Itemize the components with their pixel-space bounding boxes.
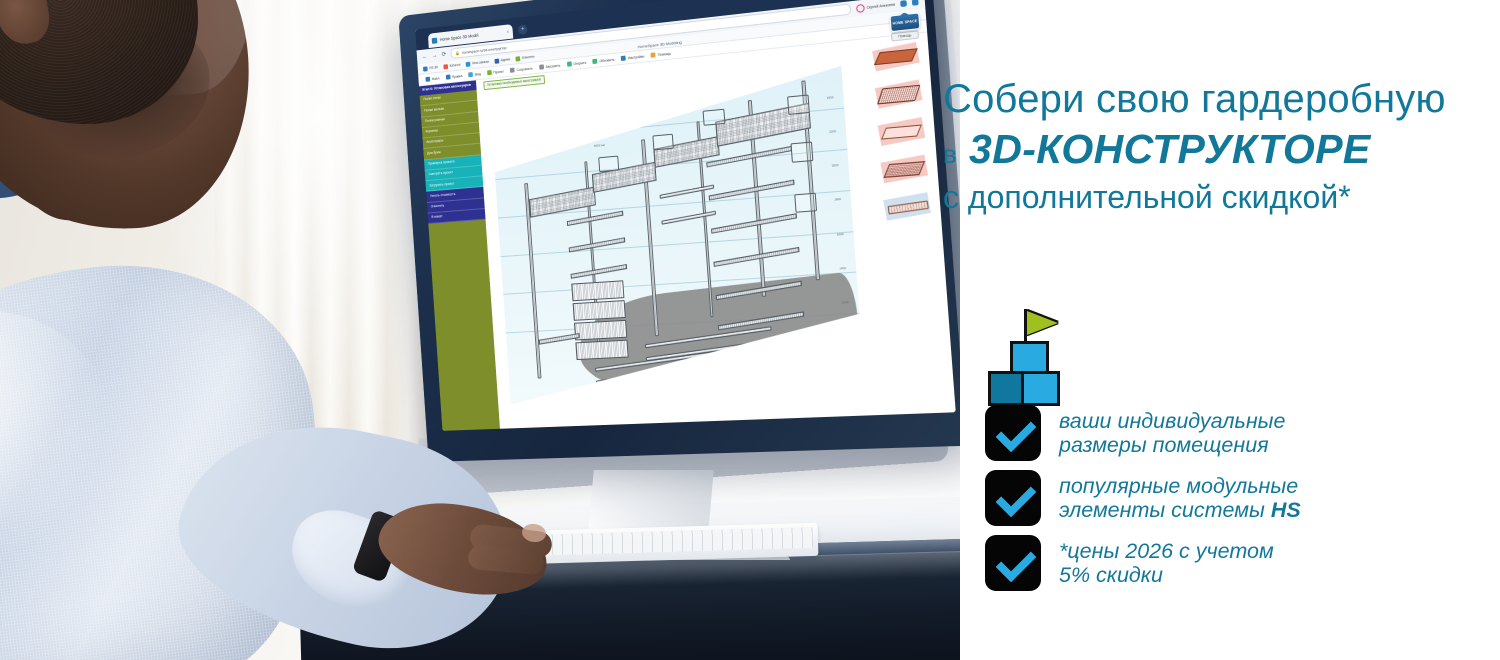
bookmark-item[interactable]: Админ (494, 57, 510, 64)
building-blocks-icon (988, 305, 1074, 400)
headline-line-2: в 3D-КОНСТРУКТОРЕ (943, 125, 1488, 173)
toolbar-item[interactable]: Вид (469, 71, 481, 77)
toolbar-item[interactable]: Настройки (621, 54, 644, 61)
sidebar-section-actions: Узнать стоимость Очистить В макет (426, 187, 485, 224)
headline-block: Собери свою гардеробную в 3D-КОНСТРУКТОР… (943, 78, 1488, 215)
benefit-line-2: размеры помещения (1059, 433, 1269, 457)
check-icon (985, 470, 1041, 526)
benefit-text: *цены 2026 с учетом 5% скидки (1059, 539, 1274, 588)
benefit-line-1: ваши индивидуальные (1059, 409, 1285, 433)
dimension-width: 4000 мм (594, 143, 605, 148)
headline-line-2-prefix: в (943, 139, 957, 169)
list-item: ваши индивидуальные размеры помещения (985, 405, 1485, 461)
monitor-screen: Home Space 3D Model × + — ▫ ✕ ← → ⟳ (415, 0, 956, 431)
back-icon[interactable]: ← (422, 53, 428, 59)
benefit-line-2: элементы системы (1059, 498, 1265, 522)
bookmark-item[interactable]: Каталог (443, 62, 461, 69)
check-icon (985, 535, 1041, 591)
toolbar-item[interactable]: Правка (445, 73, 462, 80)
list-item: *цены 2026 с учетом 5% скидки (985, 535, 1485, 591)
browser-window: Home Space 3D Model × + — ▫ ✕ ← → ⟳ (415, 0, 956, 431)
toolbar-item[interactable]: Открыть (567, 60, 587, 67)
flag-icon (1027, 311, 1058, 335)
toolbar-item[interactable]: Проект (487, 69, 504, 76)
benefit-line-1: *цены 2026 с учетом (1059, 539, 1274, 563)
headline-line-3: с дополнительной скидкой* (943, 180, 1488, 215)
list-item: популярные модульные элементы системы HS (985, 470, 1485, 526)
brand-hs: HS (1271, 498, 1301, 522)
headline-emphasis: 3D-КОНСТРУКТОРЕ (969, 126, 1371, 172)
imac-monitor: Home Space 3D Model × + — ▫ ✕ ← → ⟳ (398, 0, 960, 462)
dimension-mark: 2000 (831, 163, 838, 168)
headline-line-1: Собери свою гардеробную (943, 78, 1488, 121)
forward-icon[interactable]: → (432, 52, 438, 58)
benefit-line-1: популярные модульные (1059, 474, 1298, 498)
tab-title: Home Space 3D Model (440, 33, 479, 42)
extension-icon[interactable] (900, 0, 907, 7)
bookmark-item[interactable]: Мои заказы (466, 59, 489, 66)
banner-root: Home Space 3D Model × + — ▫ ✕ ← → ⟳ (0, 0, 1500, 660)
benefit-line-2: 5% скидки (1059, 563, 1163, 587)
toolbar-item[interactable]: Обновить (593, 57, 615, 64)
tab-favicon (432, 37, 438, 43)
benefit-text: популярные модульные элементы системы HS (1059, 474, 1301, 523)
dimension-mark: 2400 (826, 95, 833, 100)
benefits-list: ваши индивидуальные размеры помещения по… (985, 405, 1485, 600)
block-bottom-right (1021, 371, 1060, 406)
account-chip[interactable]: Сергей Алексеев (856, 0, 895, 12)
bookmark-item[interactable]: HS 3D (423, 65, 438, 71)
viewport-3d[interactable]: Установка необходимых аксессуаров (476, 39, 890, 428)
check-icon (985, 405, 1041, 461)
keyboard-keys (523, 527, 813, 556)
photo-scene: Home Space 3D Model × + — ▫ ✕ ← → ⟳ (0, 0, 960, 660)
url-text: homespace.ru/3d-конструктор (462, 46, 506, 55)
benefit-text: ваши индивидуальные размеры помещения (1059, 409, 1285, 458)
lock-icon: 🔒 (455, 50, 460, 55)
toolbar-item[interactable]: Помощь (651, 51, 671, 58)
room-box: 4000 мм 1200 мм 2400 2200 2000 1800 1600… (482, 50, 882, 411)
toolbar-item[interactable]: Файл (425, 76, 439, 82)
sidebar-section-preview: Примерка проекта Смотреть проект Загрузи… (424, 155, 483, 192)
avatar-icon (856, 3, 865, 12)
tab-close-icon[interactable]: × (506, 29, 509, 34)
dimension-mark: 1600 (836, 232, 843, 237)
dimension-mark: 1400 (839, 266, 846, 271)
dimension-mark: 1200 (842, 300, 849, 305)
dimension-top: 1200 мм (762, 70, 774, 75)
toolbar-item[interactable]: Сохранить (510, 66, 533, 73)
marketing-panel: Собери свою гардеробную в 3D-КОНСТРУКТОР… (915, 0, 1500, 660)
reload-icon[interactable]: ⟳ (442, 51, 447, 58)
toolbar-item[interactable]: Загрузить (539, 63, 561, 70)
account-name: Сергей Алексеев (866, 2, 895, 9)
dimension-mark: 2200 (829, 129, 836, 134)
dimension-mark: 1800 (834, 197, 841, 202)
bookmark-item[interactable]: Клиенты (515, 54, 534, 61)
